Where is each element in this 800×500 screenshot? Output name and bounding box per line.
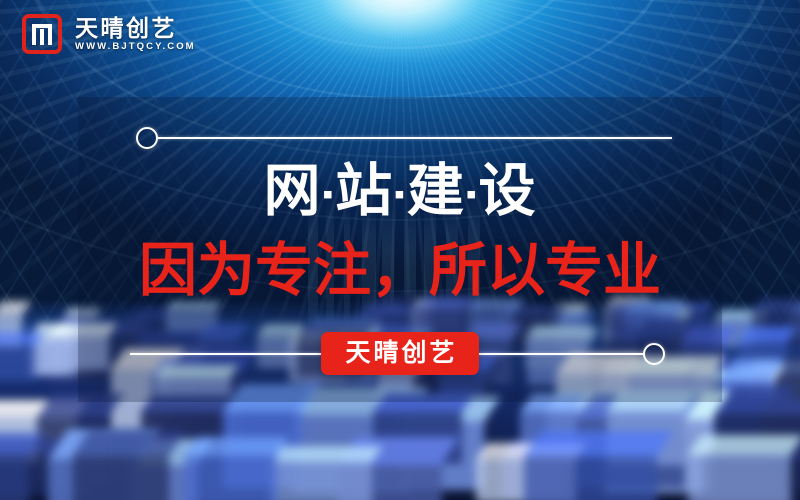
logo-text-block: 天晴创艺 WWW.BJTQCY.COM [75,17,196,52]
headline-separator: ▪ [466,178,478,211]
brand-badge[interactable]: 天晴创艺 [321,332,479,375]
background-cube [720,379,771,438]
rule-bottom-right [479,353,643,355]
background-cube [48,458,140,500]
background-cube [723,413,796,455]
headline-char: 站 [335,159,393,223]
background-cube [520,411,576,464]
background-cube [703,460,800,500]
logo-company-name: 天晴创艺 [75,17,196,40]
background-cube [338,463,441,500]
headline-separator: ▪ [323,178,335,211]
background-cube [502,456,569,499]
background-cube [185,455,277,500]
background-cube [604,417,714,494]
subheadline: 因为专注，所以专业 [0,242,800,300]
headline-char: 建 [407,159,465,223]
background-cube [688,453,791,500]
background-cube [73,453,170,500]
headline-separator: ▪ [394,178,406,211]
background-cube [130,464,197,500]
background-cube [772,373,800,428]
background-cube [730,380,775,420]
brand-logo[interactable]: 天晴创艺 WWW.BJTQCY.COM [22,14,196,54]
background-cube [30,336,66,375]
background-cube [0,453,29,500]
logo-website-url: WWW.BJTQCY.COM [75,42,196,52]
background-cube [293,414,410,493]
background-cube [752,311,800,348]
background-cube [546,409,617,460]
background-cube [0,344,36,381]
background-cube [373,411,462,464]
background-cube [714,413,777,492]
background-cube [0,313,22,348]
background-cube [37,416,108,484]
rule-bottom-left [130,353,321,355]
banner-root: 天晴创艺 WWW.BJTQCY.COM 网▪站▪建▪设 因为专注，所以专业 天晴… [0,0,800,500]
rule-top [157,137,672,139]
headline-char: 设 [478,159,536,223]
background-cube [789,312,800,338]
headline-char: 网 [264,159,322,223]
background-cube [270,461,372,500]
background-cube [223,410,302,488]
background-cube [607,410,685,465]
circle-outline-icon-top-left [136,127,158,149]
background-cube [576,418,685,489]
background-cube [401,420,484,490]
headline: 网▪站▪建▪设 [0,163,800,220]
background-cube [738,341,787,384]
background-cube [0,453,91,496]
background-cube [524,455,657,500]
background-cube [760,414,800,460]
background-cube [141,410,226,457]
background-cube [476,458,576,500]
circle-outline-icon-bottom-right [643,343,665,365]
brand-badge-label: 天晴创艺 [342,341,457,366]
background-cube [747,372,800,408]
logo-mark-icon [22,14,62,54]
background-cube [0,416,77,463]
